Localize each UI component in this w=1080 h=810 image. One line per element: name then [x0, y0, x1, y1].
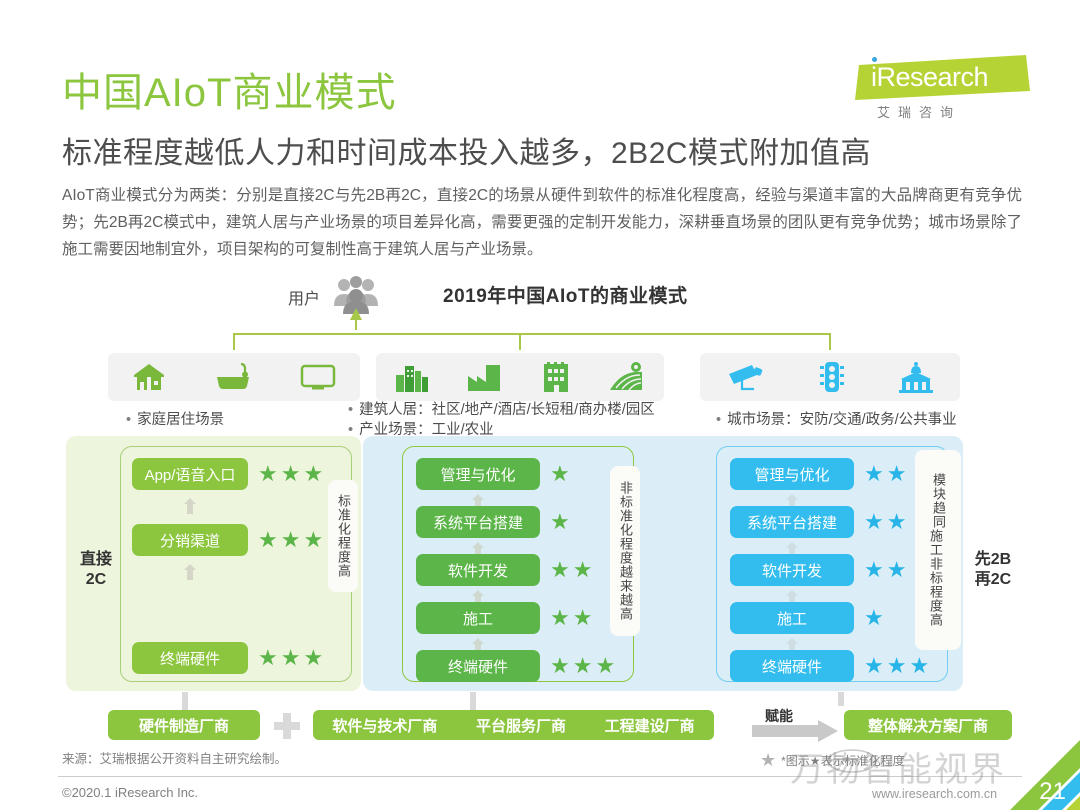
- row-stars: ★★★: [550, 655, 615, 677]
- row-pill[interactable]: 施工: [416, 602, 540, 634]
- bathtub-icon: [214, 362, 252, 392]
- city-buildings-icon: [394, 361, 430, 393]
- bullet-dot-icon: •: [126, 412, 131, 428]
- vendor-engineering: 工程建设厂商: [605, 715, 695, 736]
- farm-field-icon: [608, 362, 646, 392]
- row-stars: ★★: [864, 559, 906, 581]
- traffic-light-icon: [819, 360, 845, 394]
- page-title: 中国AIoT商业模式: [62, 60, 396, 118]
- page-subtitle: 标准程度越低人力和时间成本投入越多，2B2C模式附加值高: [62, 128, 871, 172]
- row-stars: ★: [864, 607, 884, 629]
- row-stars: ★★: [864, 463, 906, 485]
- panel-label-direct-2c: 直接 2C: [72, 550, 120, 590]
- row-pill[interactable]: 软件开发: [730, 554, 854, 586]
- row-stars: ★★★: [258, 647, 323, 669]
- note-nonstandard-increasing: 非标准化程度越来越高: [610, 466, 640, 636]
- scene-icons-city: [700, 353, 960, 401]
- row-pill[interactable]: 终端硬件: [416, 650, 540, 682]
- source-note: 来源：艾瑞根据公开资料自主研究绘制。: [62, 748, 287, 767]
- caption-city: •城市场景：安防/交通/政务/公共事业: [716, 410, 957, 430]
- note-module-construction: 模块趋同 施工非标程度高: [915, 450, 961, 650]
- diagram-area: 用户 2019年中国AIoT的商业模式: [0, 268, 1080, 738]
- plus-icon: [272, 711, 302, 741]
- row-pill[interactable]: 终端硬件: [132, 642, 248, 674]
- office-building-icon: [540, 361, 572, 393]
- caption-home: •家庭居住场景: [126, 410, 224, 430]
- row-pill[interactable]: 终端硬件: [730, 650, 854, 682]
- security-camera-icon: [726, 362, 766, 392]
- row-pill[interactable]: 施工: [730, 602, 854, 634]
- row-stars: ★★★: [864, 655, 929, 677]
- row-pill[interactable]: App/语音入口: [132, 458, 248, 490]
- up-arrow-icon: [184, 564, 196, 580]
- vendor-hardware[interactable]: 硬件制造厂商: [108, 710, 260, 740]
- bullet-dot-icon: •: [716, 412, 721, 428]
- watermark-chat-icon: [826, 748, 888, 774]
- row-pill[interactable]: 管理与优化: [416, 458, 540, 490]
- row-pill[interactable]: 分销渠道: [132, 524, 248, 556]
- panel-label-2b-2c: 先2B 再2C: [966, 550, 1020, 590]
- row-stars: ★: [550, 511, 570, 533]
- copyright-text: ©2020.1 iResearch Inc.: [62, 785, 198, 800]
- up-arrow-icon: [184, 498, 196, 514]
- factory-icon: [466, 362, 504, 392]
- house-icon: [132, 362, 166, 392]
- scene-icons-home: [108, 353, 360, 401]
- row-pill[interactable]: 软件开发: [416, 554, 540, 586]
- row-stars: ★: [550, 463, 570, 485]
- scene-icons-building: [376, 353, 664, 401]
- footer-divider: [58, 776, 1022, 777]
- iresearch-logo: iResearch 艾瑞咨询: [855, 55, 1030, 123]
- row-pill[interactable]: 系统平台搭建: [730, 506, 854, 538]
- row-stars: ★★★: [258, 463, 323, 485]
- row-pill[interactable]: 系统平台搭建: [416, 506, 540, 538]
- row-pill[interactable]: 管理与优化: [730, 458, 854, 490]
- slide-page: 中国AIoT商业模式 标准程度越低人力和时间成本投入越多，2B2C模式附加值高 …: [0, 0, 1080, 810]
- legend-star-icon: ★: [760, 750, 776, 771]
- intro-paragraph: AIoT商业模式分为两类：分别是直接2C与先2B再2C，直接2C的场景从硬件到软…: [62, 182, 1022, 263]
- vendor-software: 软件与技术厂商: [332, 715, 437, 736]
- row-stars: ★★: [550, 559, 592, 581]
- vendor-group[interactable]: 软件与技术厂商 平台服务厂商 工程建设厂商: [313, 710, 714, 740]
- caption-building: •建筑人居：社区/地产/酒店/长短租/商办楼/园区 •产业场景：工业/农业: [348, 400, 655, 440]
- vendor-platform: 平台服务厂商: [476, 715, 566, 736]
- vendor-connectors: [0, 692, 1080, 714]
- bullet-dot-icon: •: [348, 402, 353, 418]
- page-number: 21: [1039, 778, 1066, 806]
- row-stars: ★★: [550, 607, 592, 629]
- note-standardization-high: 标准化程度高: [328, 480, 358, 592]
- logo-wordmark: iResearch: [871, 62, 988, 93]
- logo-chinese-name: 艾瑞咨询: [877, 102, 961, 121]
- row-stars: ★★: [864, 511, 906, 533]
- enable-arrow-icon: [752, 720, 838, 742]
- government-building-icon: [898, 361, 934, 393]
- tv-icon: [300, 363, 336, 391]
- row-stars: ★★★: [258, 529, 323, 551]
